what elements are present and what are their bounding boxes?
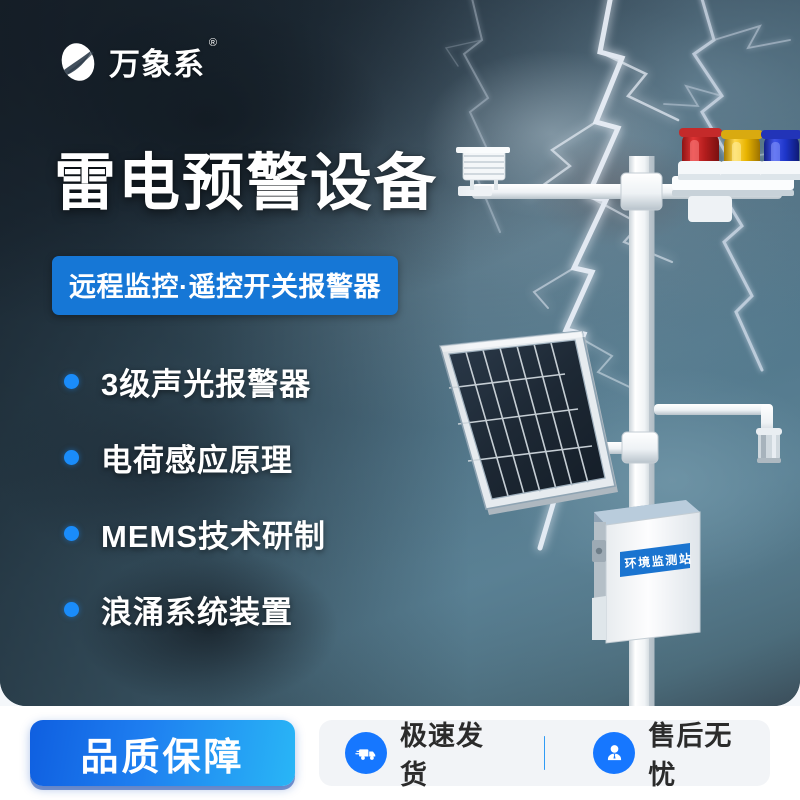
subtitle-badge: 远程监控·遥控开关报警器 <box>52 256 398 315</box>
quality-guarantee-badge[interactable]: 品质保障 <box>30 720 295 786</box>
cylindrical-sensor-probe <box>756 428 782 463</box>
delivery-truck-icon <box>345 732 387 774</box>
blue-dot-icon <box>64 374 79 389</box>
service-label: 售后无忧 <box>648 714 744 792</box>
hero-photo: 环境监测站 万象系 ® 雷电预警设备 远程监控·遥控开关报警器 3级声光报警器 <box>0 0 800 706</box>
service-item-shipping[interactable]: 极速发货 <box>345 714 496 792</box>
list-item: MEMS技术研制 <box>64 502 326 565</box>
list-item: 电荷感应原理 <box>64 426 326 489</box>
page-title: 雷电预警设备 <box>54 151 438 217</box>
trust-bar: 品质保障 极速发货 <box>0 706 800 800</box>
brand-swoosh-logo-icon <box>56 40 100 84</box>
beacon-blue <box>760 130 800 180</box>
beacon-yellow <box>720 130 764 180</box>
blue-dot-icon <box>64 450 79 465</box>
feature-label: MEMS技术研制 <box>101 511 326 556</box>
list-item: 3级声光报警器 <box>64 350 326 413</box>
feature-label: 电荷感应原理 <box>101 435 293 480</box>
sensor-support-arm <box>654 404 773 438</box>
blue-dot-icon <box>64 526 79 541</box>
product-poster: 环境监测站 万象系 ® 雷电预警设备 远程监控·遥控开关报警器 3级声光报警器 <box>0 0 800 800</box>
feature-label: 浪涌系统装置 <box>101 587 293 632</box>
service-item-aftersales[interactable]: 售后无忧 <box>593 714 744 792</box>
service-label: 极速发货 <box>400 714 496 792</box>
trademark-symbol: ® <box>209 37 218 49</box>
list-item: 浪涌系统装置 <box>64 578 326 641</box>
divider <box>544 736 546 770</box>
customer-service-person-icon <box>593 732 635 774</box>
three-stage-alarm-beacons <box>678 128 800 180</box>
beacon-red <box>678 128 723 180</box>
blue-dot-icon <box>64 602 79 617</box>
brand-logo: 万象系 ® <box>56 39 205 84</box>
brand-name-wrap: 万象系 ® <box>109 39 205 84</box>
service-list: 极速发货 售后无忧 <box>319 720 770 786</box>
feature-label: 3级声光报警器 <box>101 359 311 404</box>
feature-list: 3级声光报警器 电荷感应原理 MEMS技术研制 浪涌系统装置 <box>64 350 326 654</box>
brand-name: 万象系 <box>109 47 205 82</box>
control-enclosure: 环境监测站 <box>592 500 700 643</box>
